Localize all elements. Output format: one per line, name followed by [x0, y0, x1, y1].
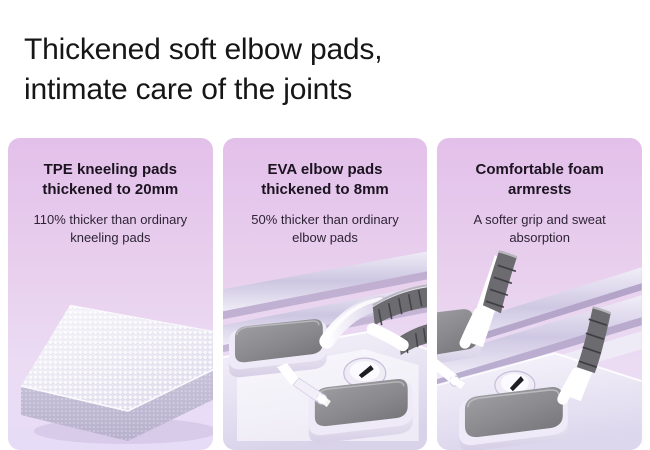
foam-armrest-grips-photo: [437, 245, 642, 450]
feature-panel-tpe-kneeling-pads[interactable]: TPE kneeling pads thickened to 20mm 110%…: [8, 138, 213, 450]
elbow-pads-on-rail-photo: [223, 245, 428, 450]
panel-heading: Comfortable foam armrests: [449, 160, 630, 201]
feature-panel-eva-elbow-pads[interactable]: EVA elbow pads thickened to 8mm 50% thic…: [223, 138, 428, 450]
page-title: Thickened soft elbow pads, intimate care…: [24, 30, 624, 110]
panel-subtext: 50% thicker than ordinary elbow pads: [235, 211, 416, 248]
textured-kneeling-pad-photo: [8, 245, 213, 450]
feature-panel-row: TPE kneeling pads thickened to 20mm 110%…: [8, 138, 642, 450]
panel-subtext: A softer grip and sweat absorption: [449, 211, 630, 248]
feature-panel-foam-armrests[interactable]: Comfortable foam armrests A softer grip …: [437, 138, 642, 450]
product-feature-banner: Thickened soft elbow pads, intimate care…: [0, 0, 650, 450]
panel-heading: TPE kneeling pads thickened to 20mm: [20, 160, 201, 201]
panel-heading: EVA elbow pads thickened to 8mm: [235, 160, 416, 201]
panel-subtext: 110% thicker than ordinary kneeling pads: [20, 211, 201, 248]
